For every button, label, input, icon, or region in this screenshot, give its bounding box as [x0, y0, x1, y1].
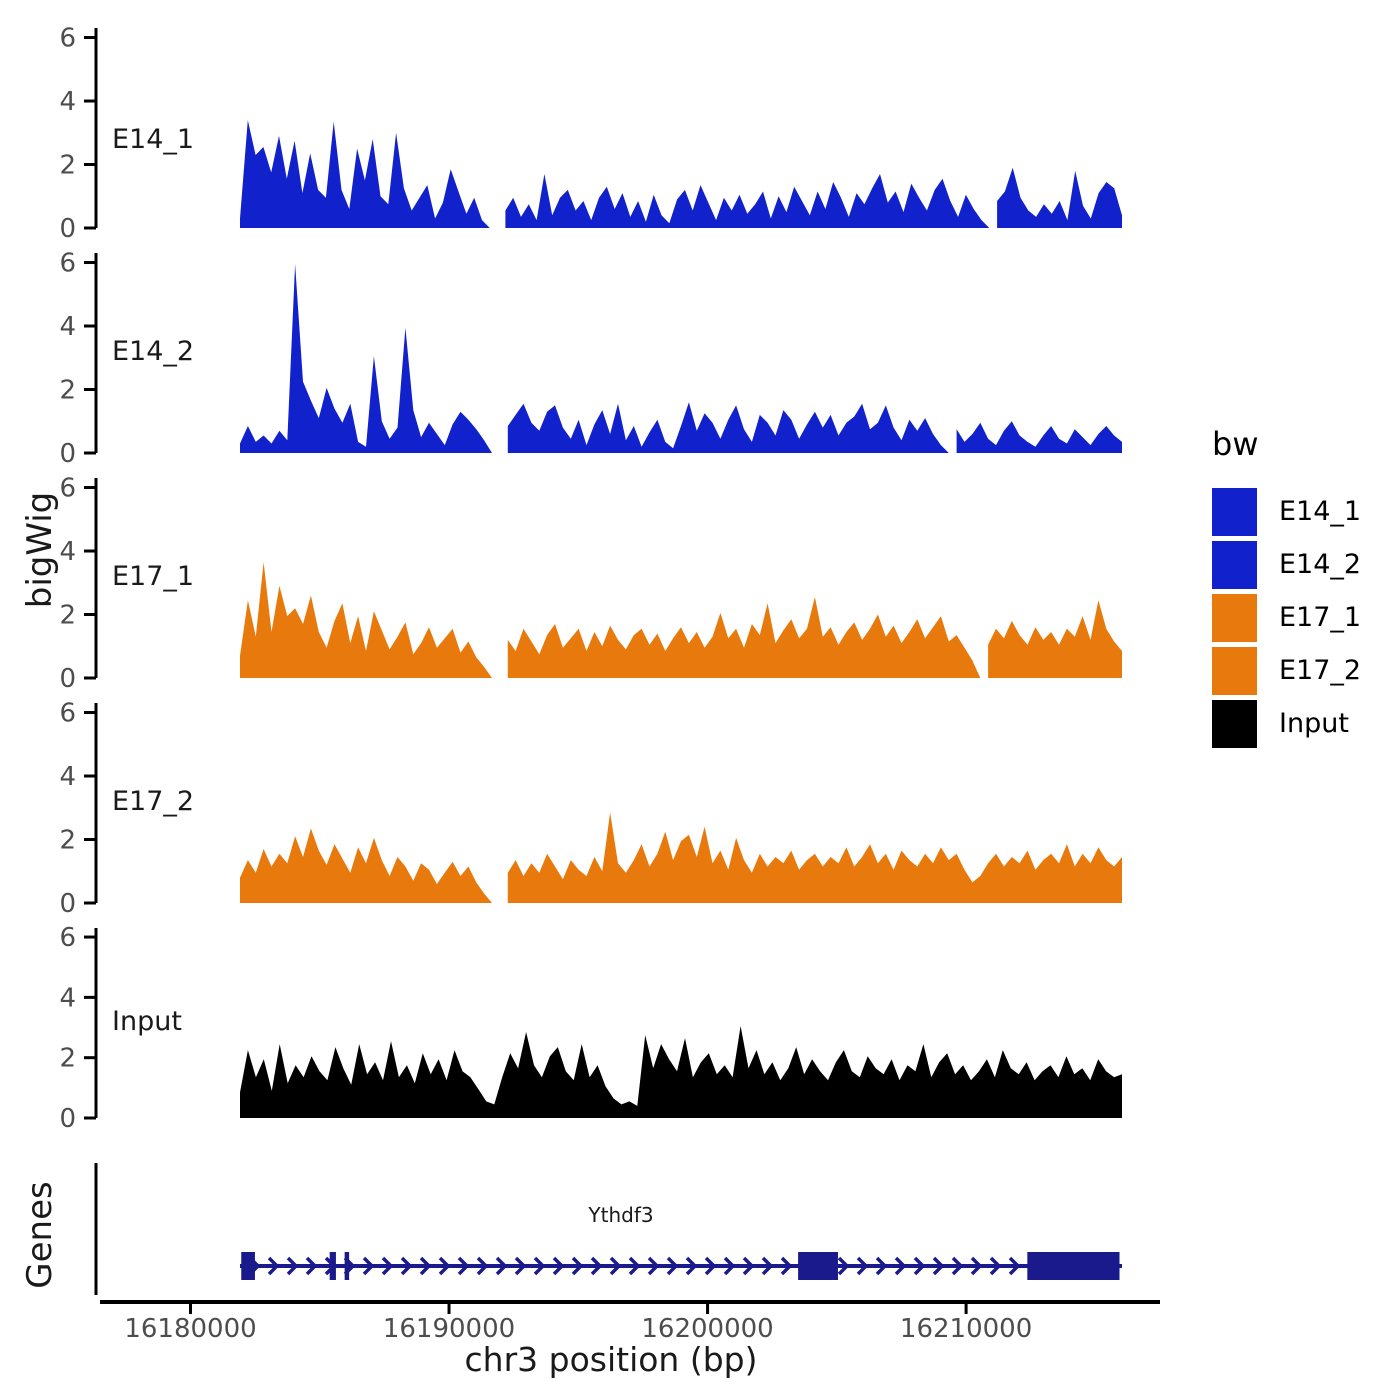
gene-name-label: Ythdf3 — [587, 1203, 653, 1227]
y-tick-label-6: 6 — [59, 474, 76, 504]
signal-area-e17_2 — [240, 813, 1122, 904]
legend-title: bw — [1212, 425, 1397, 463]
legend-item-e14_1[interactable]: E14_1 — [1212, 485, 1397, 538]
track-panel-e17_2: 0246E17_2 — [59, 699, 1122, 919]
panel-label-e14_1: E14_1 — [112, 124, 194, 155]
y-tick-label-6: 6 — [59, 249, 76, 279]
y-tick-label-4: 4 — [59, 312, 76, 342]
y-tick-label-6: 6 — [59, 24, 76, 54]
y-tick-label-2: 2 — [59, 376, 76, 406]
track-panel-e17_1: 0246E17_1 — [59, 474, 1122, 694]
panel-label-input: Input — [112, 1006, 182, 1037]
legend-label: E14_1 — [1279, 496, 1361, 527]
y-tick-label-0: 0 — [59, 1104, 76, 1134]
x-axis: 16180000161900001620000016210000 — [100, 1302, 1160, 1344]
y-tick-label-0: 0 — [59, 889, 76, 919]
legend-items: E14_1E14_2E17_1E17_2Input — [1212, 485, 1397, 750]
plot-canvas: 0246E14_10246E14_20246E17_10246E17_20246… — [0, 0, 1400, 1400]
legend-swatch-e17_1 — [1212, 594, 1257, 642]
gene-exon-4 — [1027, 1252, 1119, 1280]
legend-swatch-e14_2 — [1212, 541, 1257, 589]
genome-browser-figure: 0246E14_10246E14_20246E17_10246E17_20246… — [0, 0, 1400, 1400]
legend-swatch-input — [1212, 700, 1257, 748]
legend-item-e17_1[interactable]: E17_1 — [1212, 591, 1397, 644]
gene-exon-1 — [330, 1252, 336, 1280]
y-tick-label-0: 0 — [59, 664, 76, 694]
track-panel-e14_1: 0246E14_1 — [59, 24, 1122, 244]
y-tick-label-6: 6 — [59, 923, 76, 953]
y-tick-label-2: 2 — [59, 151, 76, 181]
y-tick-label-4: 4 — [59, 87, 76, 117]
legend-label: E17_1 — [1279, 602, 1361, 633]
track-panel-e14_2: 0246E14_2 — [59, 249, 1122, 469]
x-tick-label-16200000: 16200000 — [641, 1314, 773, 1344]
gene-track-panel: Ythdf3 — [96, 1163, 1122, 1295]
y-tick-label-4: 4 — [59, 762, 76, 792]
signal-area-e17_1 — [240, 562, 1122, 678]
y-tick-label-0: 0 — [59, 214, 76, 244]
x-tick-label-16180000: 16180000 — [124, 1314, 256, 1344]
panel-label-e17_1: E17_1 — [112, 561, 194, 592]
x-tick-label-16190000: 16190000 — [383, 1314, 515, 1344]
gene-exon-0 — [241, 1252, 255, 1280]
y-tick-label-0: 0 — [59, 439, 76, 469]
legend-label: E14_2 — [1279, 549, 1361, 580]
signal-area-e14_2 — [240, 264, 1122, 453]
gene-exon-3 — [798, 1252, 838, 1280]
gene-exon-2 — [345, 1252, 349, 1280]
y-tick-label-4: 4 — [59, 983, 76, 1013]
signal-area-e14_1 — [240, 120, 1122, 228]
legend-swatch-e17_2 — [1212, 647, 1257, 695]
legend-label: Input — [1279, 708, 1349, 739]
panel-label-e17_2: E17_2 — [112, 786, 194, 817]
track-panel-input: 0246Input — [59, 923, 1122, 1134]
signal-area-input — [240, 1026, 1122, 1118]
y-tick-label-2: 2 — [59, 826, 76, 856]
legend-item-e17_2[interactable]: E17_2 — [1212, 644, 1397, 697]
legend-label: E17_2 — [1279, 655, 1361, 686]
y-tick-label-2: 2 — [59, 1044, 76, 1074]
panel-label-e14_2: E14_2 — [112, 336, 194, 367]
legend-item-input[interactable]: Input — [1212, 697, 1397, 750]
y-tick-label-2: 2 — [59, 601, 76, 631]
legend-swatch-e14_1 — [1212, 488, 1257, 536]
y-tick-label-6: 6 — [59, 699, 76, 729]
y-tick-label-4: 4 — [59, 537, 76, 567]
legend: bw E14_1E14_2E17_1E17_2Input — [1212, 425, 1397, 750]
x-tick-label-16210000: 16210000 — [900, 1314, 1032, 1344]
legend-item-e14_2[interactable]: E14_2 — [1212, 538, 1397, 591]
